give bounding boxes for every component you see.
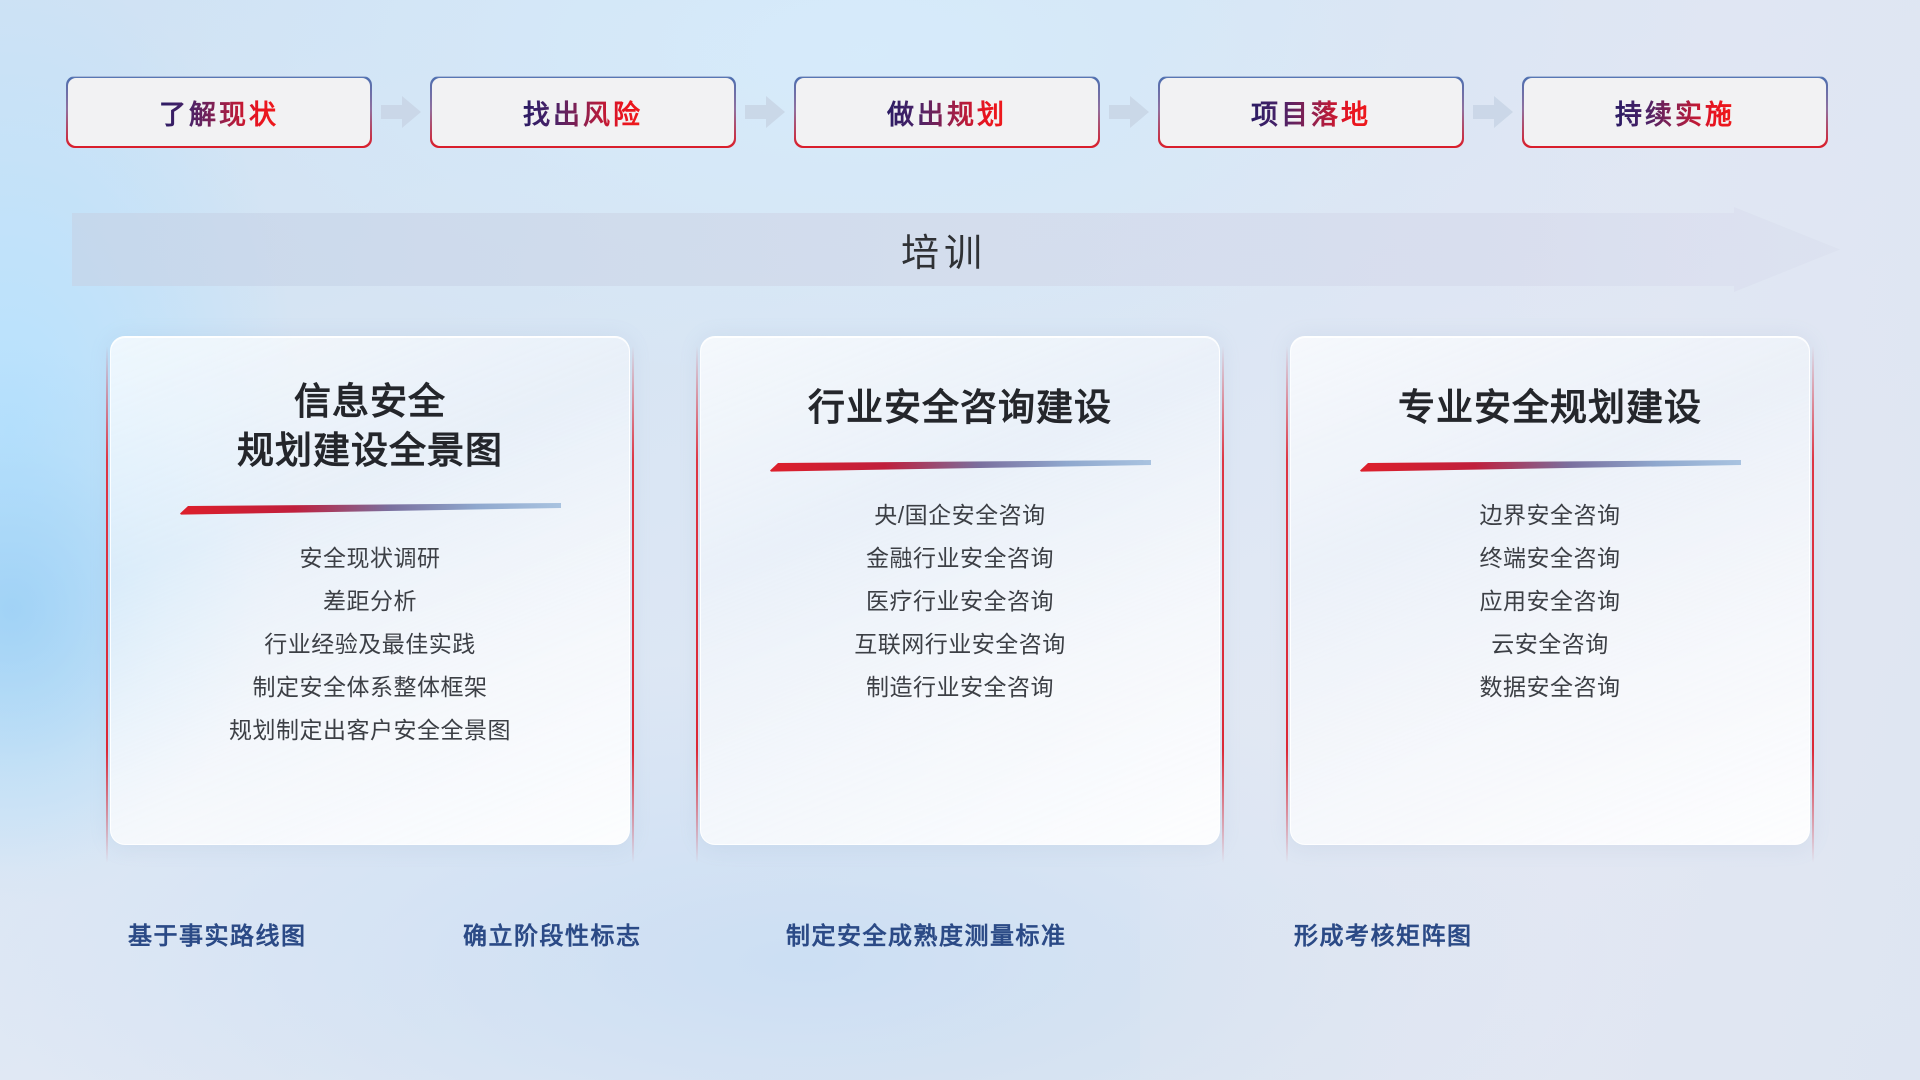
step-label: 找出风险	[523, 93, 643, 132]
step-box-inner: 找出风险	[432, 78, 734, 146]
caption-label-1: 基于事实路线图	[128, 916, 307, 951]
card-divider	[179, 501, 561, 515]
chevron-right-arrow-icon	[1100, 76, 1158, 148]
card-item-list: 边界安全咨询终端安全咨询应用安全咨询云安全咨询数据安全咨询	[1291, 494, 1809, 709]
step-label: 项目落地	[1251, 93, 1371, 132]
caption-label-3: 制定安全成熟度测量标准	[786, 916, 1067, 951]
card-left-accent	[696, 346, 698, 863]
step-box-4[interactable]: 项目落地	[1158, 76, 1464, 148]
step-label: 了解现状	[159, 93, 279, 132]
card-list-item: 互联网行业安全咨询	[854, 623, 1066, 666]
caption-label-4: 形成考核矩阵图	[1294, 916, 1473, 951]
process-step-row: 了解现状找出风险做出规划项目落地持续实施	[66, 76, 1856, 148]
card-title: 信息安全规划建设全景图	[237, 377, 503, 475]
step-box-inner: 做出规划	[796, 78, 1098, 146]
card-list-item: 数据安全咨询	[1480, 666, 1621, 709]
card-left-accent	[1286, 346, 1288, 863]
step-box-2[interactable]: 找出风险	[430, 76, 736, 148]
card-list-item: 制造行业安全咨询	[866, 666, 1054, 709]
chevron-right-arrow-icon	[1464, 76, 1522, 148]
card-title-line: 信息安全	[237, 377, 503, 426]
chevron-right-arrow-icon	[736, 76, 794, 148]
chevron-right-arrow-icon	[372, 76, 430, 148]
card-list-item: 制定安全体系整体框架	[253, 666, 488, 709]
card-list-item: 云安全咨询	[1491, 623, 1609, 666]
card-list-item: 安全现状调研	[300, 537, 441, 580]
card-list-item: 规划制定出客户安全全景图	[229, 709, 511, 752]
card-body: 信息安全规划建设全景图安全现状调研差距分析行业经验及最佳实践制定安全体系整体框架…	[110, 336, 630, 845]
card-list-item: 差距分析	[323, 580, 417, 623]
training-banner: 培训	[72, 207, 1840, 292]
card-item-list: 安全现状调研差距分析行业经验及最佳实践制定安全体系整体框架规划制定出客户安全全景…	[111, 537, 629, 752]
step-box-1[interactable]: 了解现状	[66, 76, 372, 148]
card-body: 行业安全咨询建设央/国企安全咨询金融行业安全咨询医疗行业安全咨询互联网行业安全咨…	[700, 336, 1220, 845]
card-title-line: 行业安全咨询建设	[808, 383, 1112, 432]
card-list-item: 央/国企安全咨询	[874, 494, 1045, 537]
caption-label-2: 确立阶段性标志	[463, 916, 642, 951]
card-list-item: 应用安全咨询	[1480, 580, 1621, 623]
card-body: 专业安全规划建设边界安全咨询终端安全咨询应用安全咨询云安全咨询数据安全咨询	[1290, 336, 1810, 845]
step-label: 做出规划	[887, 93, 1007, 132]
card-list-item: 金融行业安全咨询	[866, 537, 1054, 580]
step-box-inner: 持续实施	[1524, 78, 1826, 146]
card-list-item: 行业经验及最佳实践	[264, 623, 476, 666]
caption-row: 基于事实路线图确立阶段性标志制定安全成熟度测量标准形成考核矩阵图	[0, 916, 1920, 966]
card-right-accent	[1222, 346, 1224, 863]
card-divider	[1359, 458, 1741, 472]
card-title-line: 专业安全规划建设	[1398, 383, 1702, 432]
service-card-2[interactable]: 行业安全咨询建设央/国企安全咨询金融行业安全咨询医疗行业安全咨询互联网行业安全咨…	[696, 336, 1224, 871]
card-list-item: 边界安全咨询	[1480, 494, 1621, 537]
card-row: 信息安全规划建设全景图安全现状调研差距分析行业经验及最佳实践制定安全体系整体框架…	[0, 336, 1920, 876]
step-box-inner: 了解现状	[68, 78, 370, 146]
card-divider	[769, 458, 1151, 472]
service-card-3[interactable]: 专业安全规划建设边界安全咨询终端安全咨询应用安全咨询云安全咨询数据安全咨询	[1286, 336, 1814, 871]
card-right-accent	[632, 346, 634, 863]
step-box-3[interactable]: 做出规划	[794, 76, 1100, 148]
card-title: 专业安全规划建设	[1398, 383, 1702, 432]
card-title: 行业安全咨询建设	[808, 383, 1112, 432]
step-label: 持续实施	[1615, 93, 1735, 132]
step-box-5[interactable]: 持续实施	[1522, 76, 1828, 148]
service-card-1[interactable]: 信息安全规划建设全景图安全现状调研差距分析行业经验及最佳实践制定安全体系整体框架…	[106, 336, 634, 871]
card-title-line: 规划建设全景图	[237, 426, 503, 475]
card-list-item: 终端安全咨询	[1480, 537, 1621, 580]
card-item-list: 央/国企安全咨询金融行业安全咨询医疗行业安全咨询互联网行业安全咨询制造行业安全咨…	[701, 494, 1219, 709]
banner-label: 培训	[72, 207, 1840, 292]
card-list-item: 医疗行业安全咨询	[866, 580, 1054, 623]
card-right-accent	[1812, 346, 1814, 863]
step-box-inner: 项目落地	[1160, 78, 1462, 146]
card-left-accent	[106, 346, 108, 863]
